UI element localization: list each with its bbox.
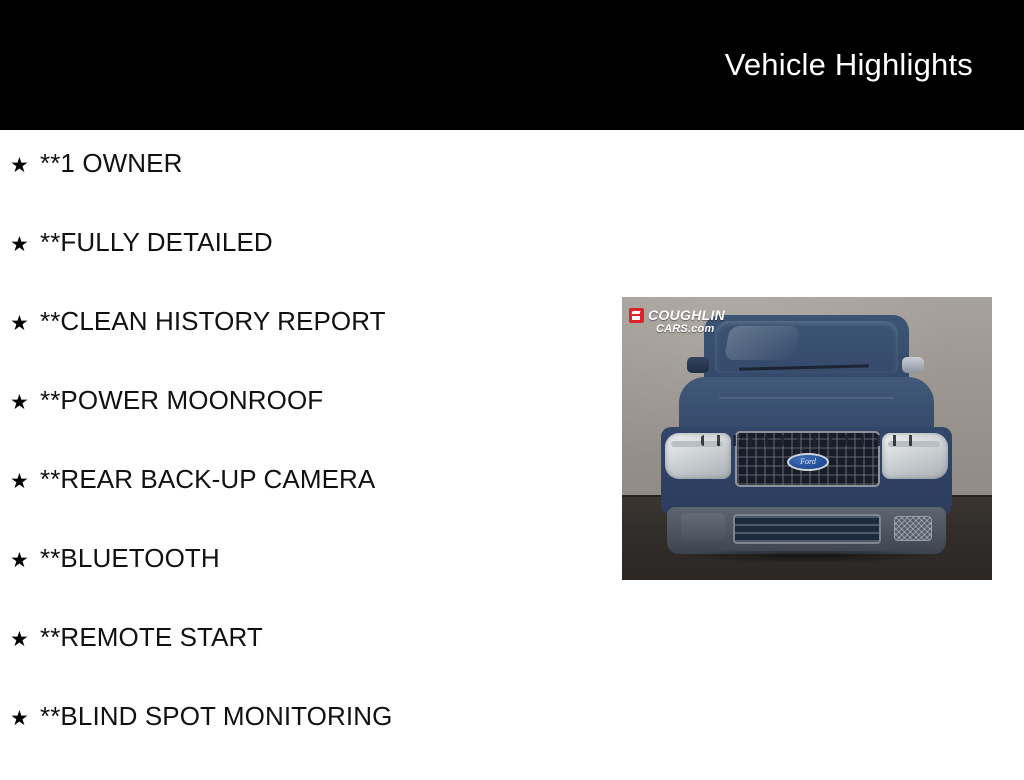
side-mirror-right	[902, 357, 924, 373]
vehicle-highlights-list: ★ **1 OWNER ★ **FULLY DETAILED ★ **CLEAN…	[0, 148, 620, 780]
page-title: Vehicle Highlights	[725, 47, 973, 83]
star-icon: ★	[10, 704, 40, 734]
truck-front-bumper	[667, 507, 946, 554]
list-item: ★ **FULLY DETAILED	[0, 227, 620, 306]
coughlin-logo-icon	[629, 308, 644, 323]
highlight-label: **CLEAN HISTORY REPORT	[40, 306, 386, 336]
star-icon: ★	[10, 467, 40, 497]
side-mirror-left	[687, 357, 709, 373]
list-item: ★ **1 OWNER	[0, 148, 620, 227]
header-bar: Vehicle Highlights	[0, 0, 1024, 130]
highlight-label: **1 OWNER	[40, 148, 182, 178]
list-item: ★ **BLIND SPOT MONITORING	[0, 701, 620, 780]
highlight-label: **BLUETOOTH	[40, 543, 220, 573]
bumper-left-plate	[681, 513, 725, 541]
hood-crease	[719, 397, 894, 399]
dealer-watermark: COUGHLIN CARS.com	[629, 308, 725, 335]
ford-badge-icon: Ford	[787, 453, 829, 471]
list-item: ★ **BLUETOOTH	[0, 543, 620, 622]
star-icon: ★	[10, 309, 40, 339]
ford-badge-label: Ford	[789, 457, 827, 466]
watermark-line-2: CARS.com	[656, 324, 725, 335]
truck-windshield	[715, 321, 898, 373]
lower-air-intake	[733, 514, 881, 544]
highlight-label: **REMOTE START	[40, 622, 263, 652]
highlight-label: **FULLY DETAILED	[40, 227, 273, 257]
wiper-icon	[739, 364, 869, 370]
fog-lamp-mesh-right	[894, 516, 932, 541]
highlight-label: **REAR BACK-UP CAMERA	[40, 464, 375, 494]
star-icon: ★	[10, 151, 40, 181]
highlight-label: **POWER MOONROOF	[40, 385, 323, 415]
list-item: ★ **CLEAN HISTORY REPORT	[0, 306, 620, 385]
windshield-glare	[724, 326, 800, 360]
list-item: ★ **REAR BACK-UP CAMERA	[0, 464, 620, 543]
star-icon: ★	[10, 625, 40, 655]
highlight-label: **BLIND SPOT MONITORING	[40, 701, 392, 731]
watermark-text: COUGHLIN CARS.com	[648, 308, 725, 335]
vehicle-photo: COUGHLIN CARS.com Ford	[622, 297, 992, 580]
grille-upper-bar	[701, 435, 916, 446]
star-icon: ★	[10, 230, 40, 260]
list-item: ★ **REMOTE START	[0, 622, 620, 701]
watermark-line-1: COUGHLIN	[648, 308, 725, 322]
list-item: ★ **POWER MOONROOF	[0, 385, 620, 464]
truck-front-fascia: Ford	[661, 427, 952, 515]
truck-shadow	[679, 551, 934, 563]
truck-illustration: Ford	[649, 315, 964, 560]
star-icon: ★	[10, 388, 40, 418]
star-icon: ★	[10, 546, 40, 576]
